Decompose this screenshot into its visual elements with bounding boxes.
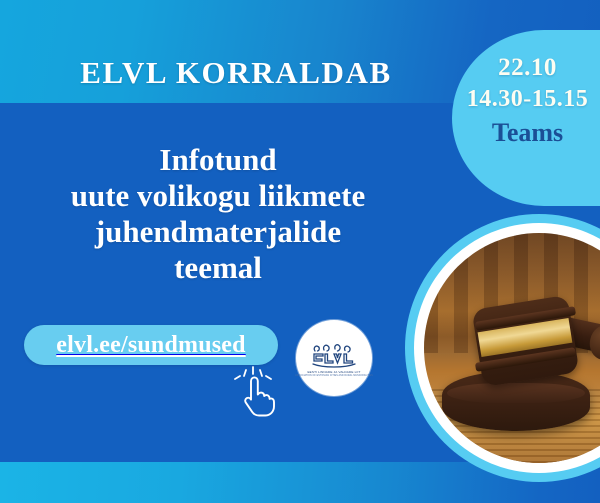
event-time: 14.30-15.15: [455, 84, 600, 115]
page-title: ELVL KORRALDAB: [0, 57, 472, 88]
tap-hand-icon: [222, 364, 284, 418]
main-heading: Infotund uute volikogu liikmete juhendma…: [8, 142, 428, 286]
website-link-button[interactable]: elvl.ee/sundmused: [24, 325, 278, 365]
main-heading-line-1: Infotund: [8, 142, 428, 178]
main-heading-line-3: juhendmaterjalide: [8, 214, 428, 250]
main-heading-line-2: uute volikogu liikmete: [8, 178, 428, 214]
event-platform: Teams: [455, 116, 600, 149]
gavel-photo: [424, 233, 600, 463]
main-heading-line-4: teemal: [8, 250, 428, 286]
gavel-sound-block-lip: [447, 383, 585, 404]
date-card: 22.10 14.30-15.15 Teams: [455, 52, 600, 149]
poster-canvas: ELVL KORRALDAB 22.10 14.30-15.15 Teams I…: [0, 0, 600, 503]
elvl-logo-caption: EESTI LINNADE JA VALDADE LIIT: [307, 370, 360, 374]
elvl-monogram-icon: [309, 340, 359, 368]
event-date: 22.10: [455, 52, 600, 84]
website-link-label: elvl.ee/sundmused: [56, 332, 245, 359]
elvl-logo: EESTI LINNADE JA VALDADE LIIT ASSOCIATIO…: [296, 320, 372, 396]
elvl-logo-caption-secondary: ASSOCIATION OF ESTONIAN CITIES AND RURAL…: [295, 375, 373, 377]
